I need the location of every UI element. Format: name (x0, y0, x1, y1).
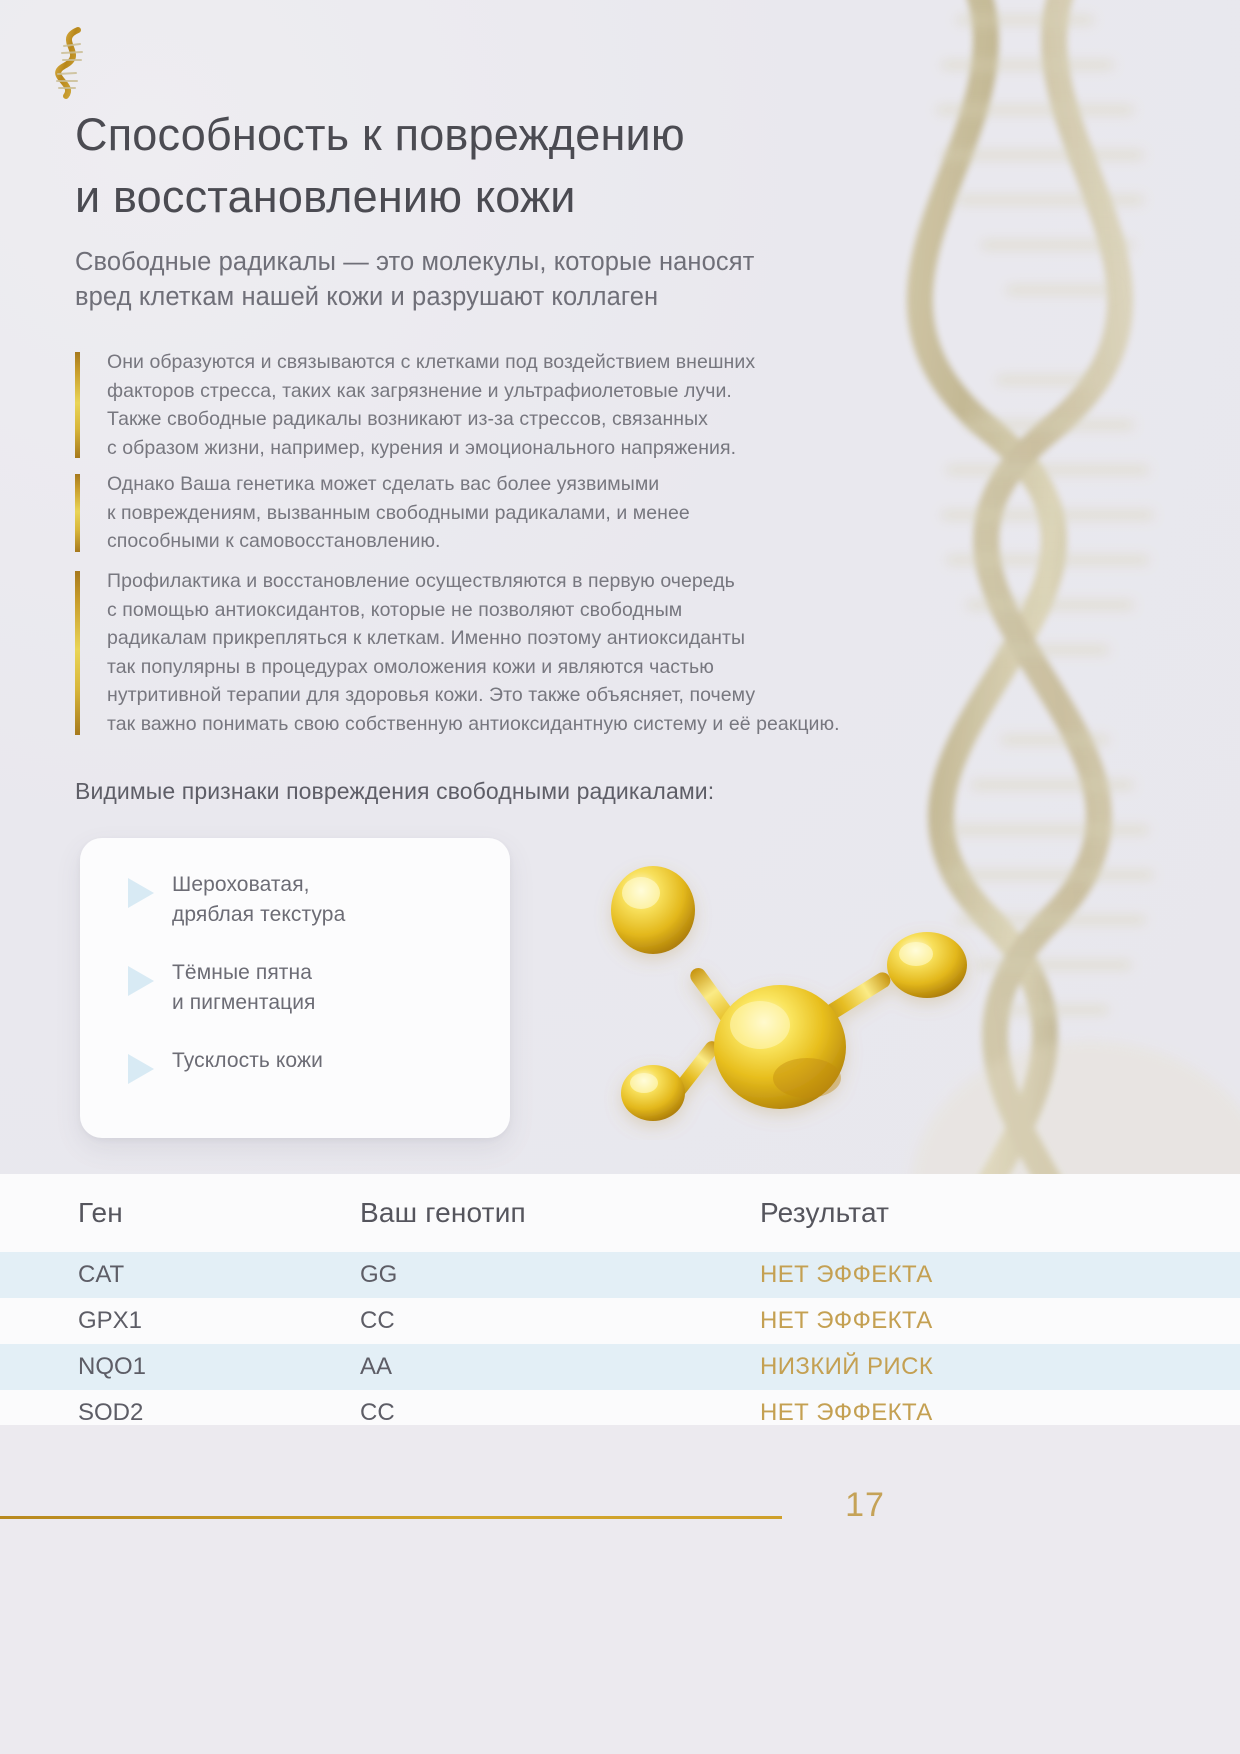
paragraph-text: Они образуются и связываются с клетками … (107, 348, 972, 462)
report-page: Способность к повреждению и восстановлен… (0, 0, 1240, 1754)
cell-genotype: CC (350, 1307, 750, 1335)
table-row: GPX1 CC НЕТ ЭФФЕКТА (0, 1298, 1240, 1344)
cell-genotype: CC (350, 1399, 750, 1427)
footer (0, 1425, 1240, 1754)
table-row: NQO1 AA НИЗКИЙ РИСК (0, 1344, 1240, 1390)
triangle-bullet-icon (128, 966, 154, 996)
footer-gold-rule (0, 1516, 782, 1519)
table-row: CAT GG НЕТ ЭФФЕКТА (0, 1252, 1240, 1298)
page-number: 17 (820, 1486, 910, 1525)
paragraph-text: Профилактика и восстановление осуществля… (107, 567, 972, 739)
golden-molecule-image (575, 835, 1005, 1140)
list-item: Шероховатая, дряблая текстура (106, 868, 484, 930)
info-paragraph-1: Они образуются и связываются с клетками … (75, 348, 972, 462)
gene-results-table: Ген Ваш генотип Результат CAT GG НЕТ ЭФФ… (0, 1174, 1240, 1436)
paragraph-text: Однако Ваша генетика может сделать вас б… (107, 470, 972, 556)
cell-result: НИЗКИЙ РИСК (750, 1353, 1240, 1381)
cell-gene: GPX1 (0, 1307, 350, 1335)
info-paragraph-2: Однако Ваша генетика может сделать вас б… (75, 470, 972, 556)
column-header-genotype: Ваш генотип (350, 1197, 750, 1229)
cell-genotype: AA (350, 1353, 750, 1381)
sign-label: Тусклость кожи (172, 1044, 323, 1076)
cell-genotype: GG (350, 1261, 750, 1289)
table-header-row: Ген Ваш генотип Результат (0, 1174, 1240, 1252)
gold-accent-bar (75, 571, 80, 735)
cell-result: НЕТ ЭФФЕКТА (750, 1399, 1240, 1427)
visible-signs-label: Видимые признаки повреждения свободными … (75, 778, 975, 805)
gold-accent-bar (75, 352, 80, 458)
cell-gene: NQO1 (0, 1353, 350, 1381)
page-subtitle: Свободные радикалы — это молекулы, котор… (75, 245, 955, 315)
sign-label: Шероховатая, дряблая текстура (172, 868, 345, 930)
cell-gene: CAT (0, 1261, 350, 1289)
cell-gene: SOD2 (0, 1399, 350, 1427)
visible-signs-card: Шероховатая, дряблая текстура Тёмные пят… (80, 838, 510, 1138)
sign-label: Тёмные пятна и пигментация (172, 956, 316, 1018)
triangle-bullet-icon (128, 878, 154, 908)
table-body: CAT GG НЕТ ЭФФЕКТА GPX1 CC НЕТ ЭФФЕКТА N… (0, 1252, 1240, 1436)
dna-helix-icon (36, 22, 106, 102)
column-header-result: Результат (750, 1197, 1240, 1229)
gold-accent-bar (75, 474, 80, 552)
column-header-gene: Ген (0, 1197, 350, 1229)
info-paragraph-3: Профилактика и восстановление осуществля… (75, 567, 972, 739)
cell-result: НЕТ ЭФФЕКТА (750, 1307, 1240, 1335)
list-item: Тусклость кожи (106, 1044, 484, 1084)
list-item: Тёмные пятна и пигментация (106, 956, 484, 1018)
cell-result: НЕТ ЭФФЕКТА (750, 1261, 1240, 1289)
triangle-bullet-icon (128, 1054, 154, 1084)
page-title: Способность к повреждению и восстановлен… (75, 104, 955, 228)
